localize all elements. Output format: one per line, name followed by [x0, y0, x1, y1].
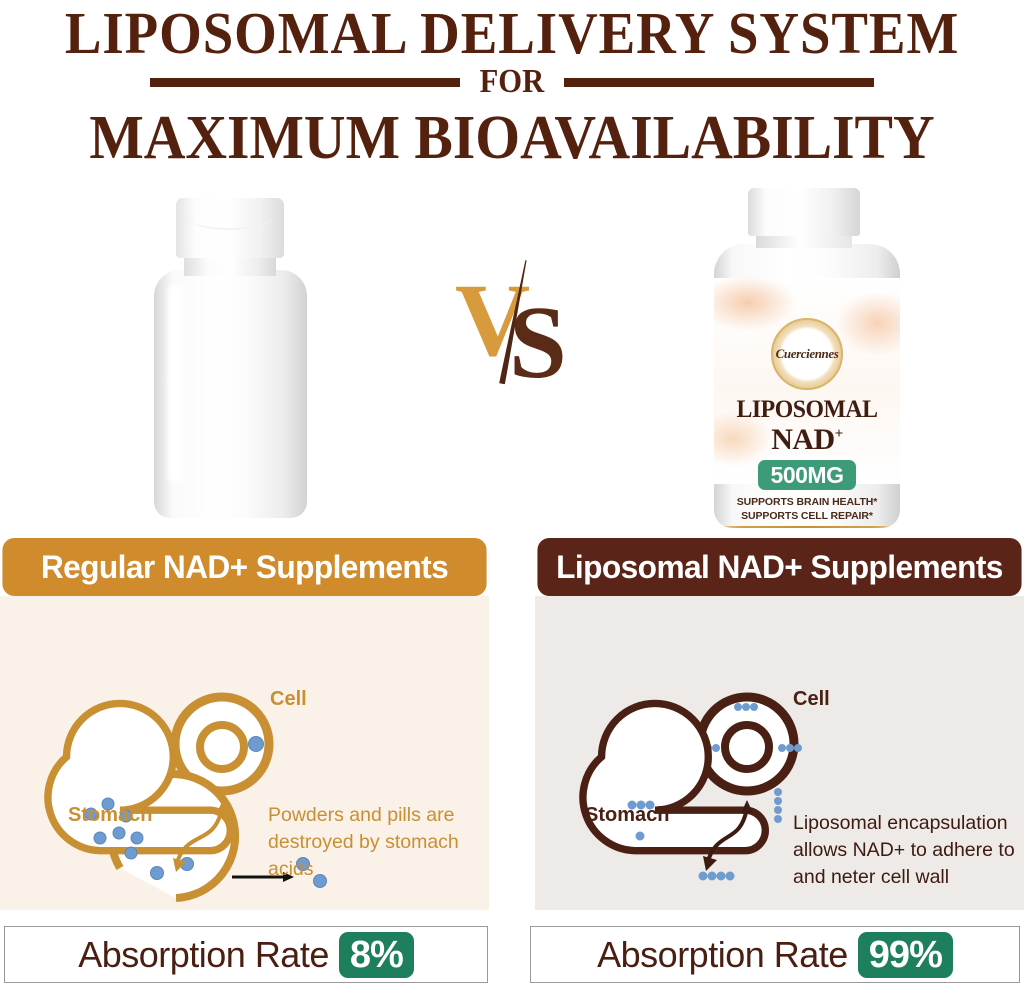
header-for-word: FOR: [480, 63, 545, 101]
plain-bottle-body: [154, 270, 307, 518]
product-bottle-image: Cuerciennes LIPOSOMAL NAD+ 500MG SUPPORT…: [712, 188, 902, 528]
product-dosage-badge: 500MG: [758, 460, 856, 490]
panel-regular-supplements: Regular NAD+ Supplements Cell Stomach: [0, 538, 489, 910]
header-rule-right: [564, 78, 874, 87]
plain-bottle-image: [148, 198, 313, 518]
absorption-label-right: Absorption Rate: [597, 934, 848, 976]
panel-right-heading: Liposomal NAD+ Supplements: [537, 538, 1021, 596]
header-title-line2: MAXIMUM BIOAVAILABILITY: [36, 106, 988, 170]
panel-left-cell-label: Cell: [270, 688, 307, 711]
bottle-comparison: V S Cuerciennes LIPOSOMAL NAD+ 500MG SUP…: [0, 180, 1024, 530]
brand-logo-badge: Cuerciennes: [771, 318, 843, 390]
panel-left-description: Powders and pills are destroyed by stoma…: [268, 802, 483, 883]
panel-left-stomach-label: Stomach: [68, 804, 152, 827]
panel-left-heading: Regular NAD+ Supplements: [2, 538, 486, 596]
panel-right-stomach-label: Stomach: [585, 804, 669, 827]
page-header: LIPOSOMAL DELIVERY SYSTEM FOR MAXIMUM BI…: [0, 0, 1024, 180]
absorption-value-right: 99%: [858, 932, 953, 978]
versus-s-letter: S: [509, 291, 567, 395]
panel-liposomal-supplements: Liposomal NAD+ Supplements: [535, 538, 1024, 910]
panel-right-body: Cell Stomach Liposomal encapsulation all…: [535, 596, 1024, 910]
header-title-line1: LIPOSOMAL DELIVERY SYSTEM: [36, 2, 988, 64]
product-claim-2: SUPPORTS CELL REPAIR*: [714, 510, 900, 522]
panel-right-cell-label: Cell: [793, 688, 830, 711]
product-claim-1: SUPPORTS BRAIN HEALTH*: [714, 496, 900, 508]
header-rule-left: [150, 78, 460, 87]
absorption-rate-bar-regular: Absorption Rate 8%: [4, 926, 488, 983]
versus-graphic: V S: [455, 255, 575, 385]
product-bottle-cap: [748, 188, 860, 236]
absorption-rate-bar-liposomal: Absorption Rate 99%: [530, 926, 1020, 983]
plain-bottle-cap: [176, 198, 284, 258]
product-title-line1: LIPOSOMAL: [719, 396, 896, 424]
absorption-label-left: Absorption Rate: [78, 934, 329, 976]
product-bottle-body: Cuerciennes LIPOSOMAL NAD+ 500MG SUPPORT…: [714, 244, 900, 528]
product-bottle-label: Cuerciennes LIPOSOMAL NAD+ 500MG SUPPORT…: [714, 278, 900, 484]
absorption-value-left: 8%: [339, 932, 414, 978]
header-for-row: FOR: [0, 60, 1024, 104]
product-title-line2: NAD+: [714, 423, 900, 457]
panel-left-body: Cell Stomach Powders and pills are destr…: [0, 596, 489, 910]
brand-logo-text: Cuerciennes: [776, 346, 839, 362]
product-footer-band: Dietary Supplement 60 Softgels: [714, 526, 900, 528]
panel-right-description: Liposomal encapsulation allows NAD+ to a…: [793, 810, 1018, 891]
